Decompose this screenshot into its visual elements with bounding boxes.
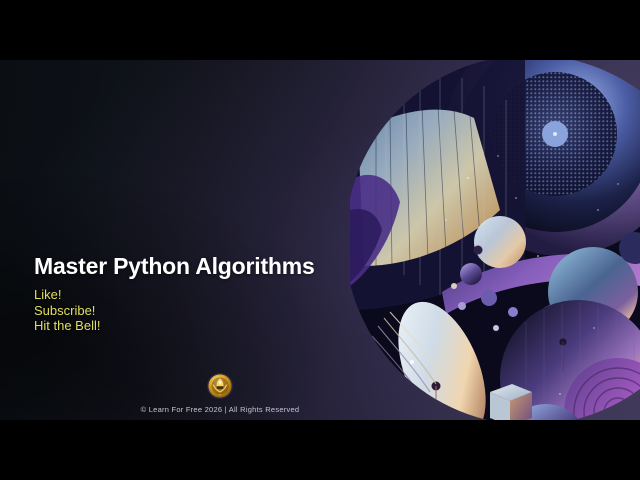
copyright-text: © Learn For Free 2026 | All Rights Reser… [141, 405, 300, 414]
footer: © Learn For Free 2026 | All Rights Reser… [0, 371, 440, 414]
letterbox-bar-bottom [0, 420, 640, 480]
cta-list: Like! Subscribe! Hit the Bell! [34, 287, 100, 334]
cta-hit-the-bell: Hit the Bell! [34, 318, 100, 334]
gold-crest-emblem-icon [205, 371, 235, 401]
cta-subscribe: Subscribe! [34, 303, 100, 319]
cta-like: Like! [34, 287, 100, 303]
abstract-3d-spheres-artwork [350, 60, 640, 420]
letterbox-bar-top [0, 0, 640, 60]
slide-stage: Master Python Algorithms Like! Subscribe… [0, 60, 640, 420]
video-slide: Master Python Algorithms Like! Subscribe… [0, 0, 640, 480]
page-title: Master Python Algorithms [34, 253, 315, 280]
